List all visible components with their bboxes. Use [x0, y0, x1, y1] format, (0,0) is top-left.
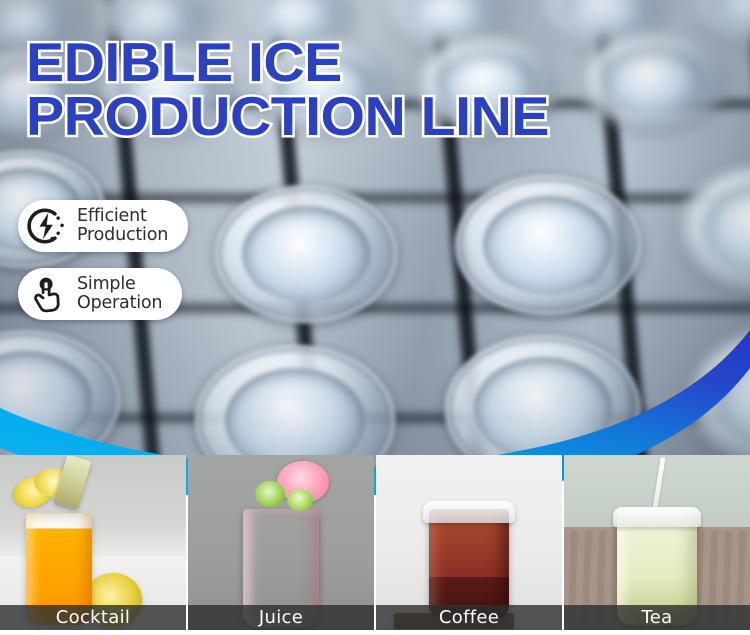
- feature-badge-efficient-production[interactable]: Efficient Production: [18, 200, 188, 252]
- lightning-efficiency-icon: [26, 205, 68, 247]
- product-tile-coffee[interactable]: Coffee: [376, 455, 562, 635]
- tile-bottom-strip: [188, 630, 374, 635]
- product-tile-tea[interactable]: Tea: [564, 455, 750, 635]
- product-label: Cocktail: [0, 605, 186, 630]
- tile-bottom-strip: [0, 630, 186, 635]
- product-tile-row: Cocktail Juice Coffee: [0, 455, 750, 635]
- feature-badge-label: Simple Operation: [77, 275, 162, 313]
- product-banner: EDIBLE ICE PRODUCTION LINE Efficient Pro…: [0, 0, 750, 635]
- product-label: Tea: [564, 605, 750, 630]
- feature-badge-label: Efficient Production: [77, 207, 168, 245]
- feature-badge-list: Efficient Production Simple Operation: [18, 200, 188, 336]
- product-label: Coffee: [376, 605, 562, 630]
- tile-bottom-strip: [376, 630, 562, 635]
- product-tile-juice[interactable]: Juice: [188, 455, 374, 635]
- tile-bottom-strip: [564, 630, 750, 635]
- coffee-cup: [429, 509, 509, 619]
- tap-hand-icon: [26, 273, 68, 315]
- page-title: EDIBLE ICE PRODUCTION LINE: [26, 36, 692, 144]
- product-label: Juice: [188, 605, 374, 630]
- product-tile-cocktail[interactable]: Cocktail: [0, 455, 186, 635]
- feature-badge-simple-operation[interactable]: Simple Operation: [18, 268, 182, 320]
